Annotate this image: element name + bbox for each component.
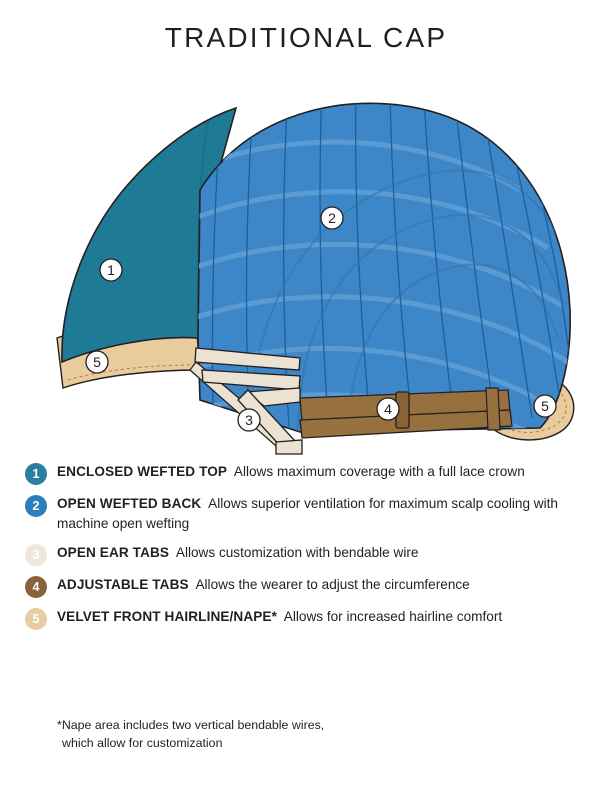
legend-list: 1 ENCLOSED WEFTED TOP Allows maximum cov… (0, 462, 612, 639)
legend-badge-2: 2 (25, 495, 47, 517)
legend-term-3: OPEN EAR TABS (57, 545, 169, 560)
page-title: TRADITIONAL CAP (0, 22, 612, 54)
legend-item-2: 2 OPEN WEFTED BACK Allows superior venti… (0, 494, 612, 534)
legend-text-2: OPEN WEFTED BACK Allows superior ventila… (57, 494, 602, 534)
marker-4-label: 4 (384, 401, 392, 417)
marker-5-right[interactable]: 5 (534, 395, 556, 417)
legend-term-2: OPEN WEFTED BACK (57, 496, 201, 511)
legend-text-1: ENCLOSED WEFTED TOP Allows maximum cover… (57, 462, 525, 482)
legend-desc-1: Allows maximum coverage with a full lace… (234, 464, 525, 479)
marker-2[interactable]: 2 (321, 207, 343, 229)
legend-text-4: ADJUSTABLE TABS Allows the wearer to adj… (57, 575, 470, 595)
cap-diagram-svg: 1 2 3 4 5 (0, 70, 612, 455)
marker-2-label: 2 (328, 210, 336, 226)
legend-badge-4: 4 (25, 576, 47, 598)
legend-item-5: 5 VELVET FRONT HAIRLINE/NAPE* Allows for… (0, 607, 612, 630)
cap-illustration: 1 2 3 4 5 (0, 70, 612, 455)
legend-item-4: 4 ADJUSTABLE TABS Allows the wearer to a… (0, 575, 612, 598)
marker-5-right-label: 5 (541, 398, 549, 414)
marker-4[interactable]: 4 (377, 398, 399, 420)
legend-badge-1: 1 (25, 463, 47, 485)
marker-5-left-label: 5 (93, 354, 101, 370)
legend-desc-5: Allows for increased hairline comfort (284, 609, 502, 624)
legend-badge-5: 5 (25, 608, 47, 630)
legend-term-1: ENCLOSED WEFTED TOP (57, 464, 227, 479)
footnote: *Nape area includes two vertical bendabl… (57, 716, 324, 752)
legend-term-4: ADJUSTABLE TABS (57, 577, 189, 592)
legend-item-1: 1 ENCLOSED WEFTED TOP Allows maximum cov… (0, 462, 612, 485)
legend-desc-4: Allows the wearer to adjust the circumfe… (195, 577, 469, 592)
marker-5-left[interactable]: 5 (86, 351, 108, 373)
legend-badge-3: 3 (25, 544, 47, 566)
footnote-line-1: *Nape area includes two vertical bendabl… (57, 716, 324, 734)
marker-1-label: 1 (107, 262, 115, 278)
open-wefted-back-region (188, 84, 572, 444)
legend-text-5: VELVET FRONT HAIRLINE/NAPE* Allows for i… (57, 607, 502, 627)
marker-3-label: 3 (245, 412, 253, 428)
footnote-line-2: which allow for customization (57, 734, 324, 752)
marker-1[interactable]: 1 (100, 259, 122, 281)
legend-text-3: OPEN EAR TABS Allows customization with … (57, 543, 418, 563)
marker-3[interactable]: 3 (238, 409, 260, 431)
legend-item-3: 3 OPEN EAR TABS Allows customization wit… (0, 543, 612, 566)
page-root: TRADITIONAL CAP (0, 0, 612, 792)
legend-desc-3: Allows customization with bendable wire (176, 545, 419, 560)
legend-term-5: VELVET FRONT HAIRLINE/NAPE* (57, 609, 277, 624)
